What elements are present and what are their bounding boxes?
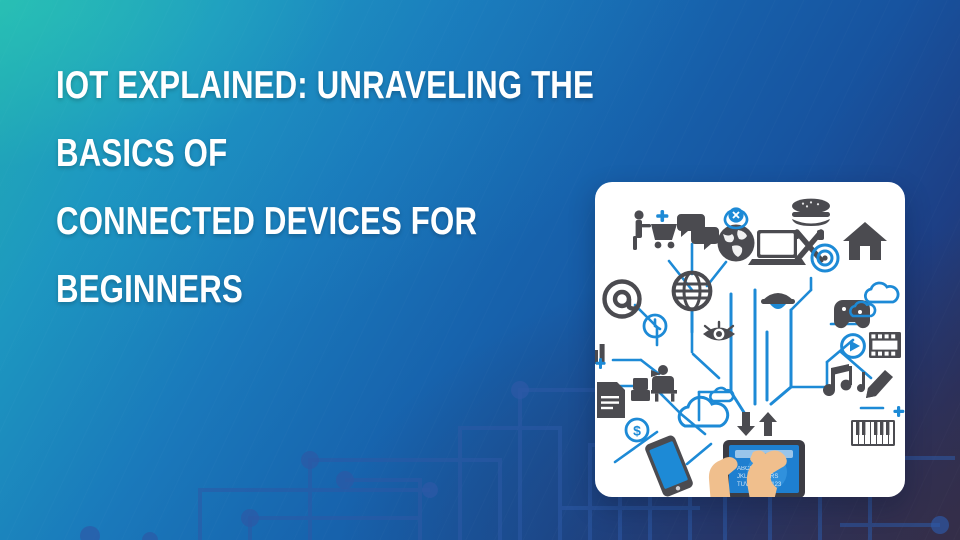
svg-text:$: $ [633,423,641,439]
graphic-canvas: IoT Explained: Unraveling the Basics of … [0,0,960,540]
illustration-card: $ [595,182,905,497]
iot-network-illustration: $ [595,182,905,497]
page-title: IoT Explained: Unraveling the Basics of … [56,52,600,324]
